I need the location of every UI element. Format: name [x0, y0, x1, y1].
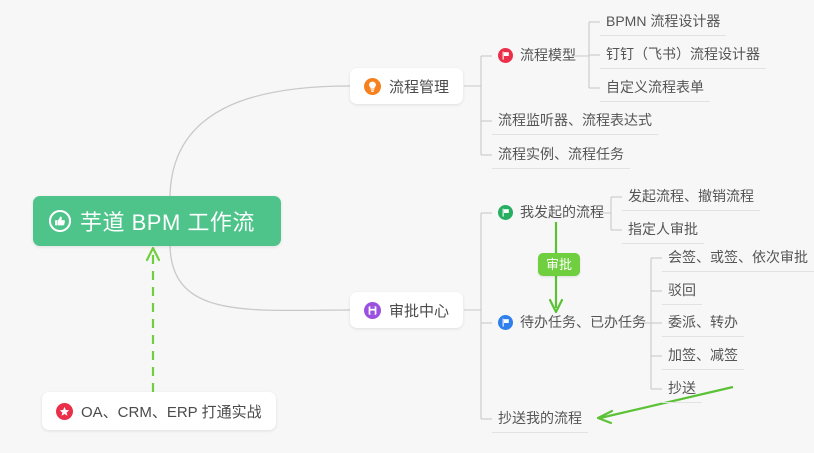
footer-label-integration-practice: OA、CRM、ERP 打通实战	[81, 401, 262, 422]
node-process-model[interactable]: 流程模型	[492, 44, 582, 70]
node-label-listener-expression: 流程监听器、流程表达式	[498, 110, 652, 130]
node-label-delegate-transfer: 委派、转办	[668, 312, 738, 332]
root-label: 芋道 BPM 工作流	[80, 205, 255, 237]
node-label-cc: 抄送	[668, 378, 696, 398]
connector-root-to-process-management	[170, 86, 350, 196]
node-label-add-remove-sign: 加签、减签	[668, 345, 738, 365]
node-countersign[interactable]: 会签、或签、依次审批	[662, 246, 814, 272]
node-label-reject: 驳回	[668, 280, 696, 300]
node-label-instance-task: 流程实例、流程任务	[498, 144, 624, 164]
connector-root-to-approval-center	[170, 246, 350, 310]
node-label-my-initiated: 我发起的流程	[520, 202, 604, 222]
node-label-start-cancel-process: 发起流程、撤销流程	[628, 186, 754, 206]
thumbs-up-icon	[49, 210, 71, 232]
integration-dashed-arrow	[147, 248, 159, 392]
root-node[interactable]: 芋道 BPM 工作流	[33, 196, 281, 246]
node-dingtalk-designer[interactable]: 钉钉（飞书）流程设计器	[600, 43, 766, 69]
node-todo-done-tasks[interactable]: 待办任务、已办任务	[492, 311, 652, 337]
node-assignee-approval[interactable]: 指定人审批	[622, 218, 704, 244]
branch-label-process-management: 流程管理	[389, 76, 449, 97]
node-reject[interactable]: 驳回	[662, 279, 702, 305]
star-icon	[56, 403, 73, 420]
node-add-remove-sign[interactable]: 加签、减签	[662, 344, 744, 370]
node-label-bpmn-designer: BPMN 流程设计器	[606, 11, 720, 31]
node-instance-task[interactable]: 流程实例、流程任务	[492, 143, 630, 169]
flag-icon	[498, 205, 513, 220]
node-start-cancel-process[interactable]: 发起流程、撤销流程	[622, 185, 760, 211]
node-label-dingtalk-designer: 钉钉（飞书）流程设计器	[606, 44, 760, 64]
branch-node-approval-center[interactable]: 审批中心	[350, 292, 463, 328]
node-label-custom-form: 自定义流程表单	[606, 77, 704, 97]
node-my-initiated[interactable]: 我发起的流程	[492, 201, 610, 227]
node-cc-to-me[interactable]: 抄送我的流程	[492, 407, 588, 433]
branch-label-approval-center: 审批中心	[389, 300, 449, 321]
node-label-assignee-approval: 指定人审批	[628, 219, 698, 239]
node-label-countersign: 会签、或签、依次审批	[668, 247, 808, 267]
flag-icon	[498, 315, 513, 330]
footer-node-integration-practice[interactable]: OA、CRM、ERP 打通实战	[42, 392, 276, 430]
node-custom-form[interactable]: 自定义流程表单	[600, 76, 710, 102]
approval-badge[interactable]: 审批	[538, 253, 580, 276]
node-label-process-model: 流程模型	[520, 45, 576, 65]
branch-node-process-management[interactable]: 流程管理	[350, 68, 463, 104]
node-cc[interactable]: 抄送	[662, 377, 702, 403]
node-delegate-transfer[interactable]: 委派、转办	[662, 311, 744, 337]
node-label-todo-done-tasks: 待办任务、已办任务	[520, 312, 646, 332]
node-bpmn-designer[interactable]: BPMN 流程设计器	[600, 10, 726, 36]
lightbulb-icon	[364, 78, 381, 95]
flag-icon	[498, 48, 513, 63]
node-listener-expression[interactable]: 流程监听器、流程表达式	[492, 109, 658, 135]
document-icon	[364, 302, 381, 319]
mindmap-canvas: 芋道 BPM 工作流 流程管理 流程模型 BPMN 流程设计器 钉钉（飞书）流程	[0, 0, 814, 453]
node-label-cc-to-me: 抄送我的流程	[498, 408, 582, 428]
